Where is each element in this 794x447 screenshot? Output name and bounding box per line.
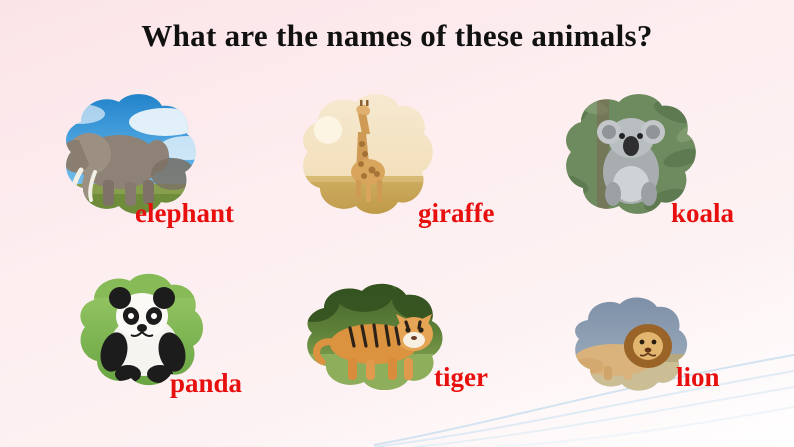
animal-word-elephant: elephant	[135, 198, 234, 229]
animal-card-tiger: tiger	[288, 278, 458, 394]
animal-word-koala: koala	[671, 198, 734, 229]
page-title: What are the names of these animals?	[0, 18, 794, 54]
slide-canvas: What are the names of these animals?	[0, 0, 794, 447]
animal-word-giraffe: giraffe	[418, 198, 494, 229]
animal-word-panda: panda	[170, 368, 242, 399]
animal-card-elephant: elephant	[45, 88, 205, 228]
animal-card-panda: panda	[60, 268, 220, 398]
animal-word-tiger: tiger	[434, 362, 488, 393]
animal-card-giraffe: giraffe	[282, 88, 442, 228]
tiger-photo	[288, 278, 458, 394]
animal-card-koala: koala	[545, 88, 705, 228]
animal-word-lion: lion	[676, 362, 720, 393]
animal-card-lion: lion	[558, 292, 698, 392]
